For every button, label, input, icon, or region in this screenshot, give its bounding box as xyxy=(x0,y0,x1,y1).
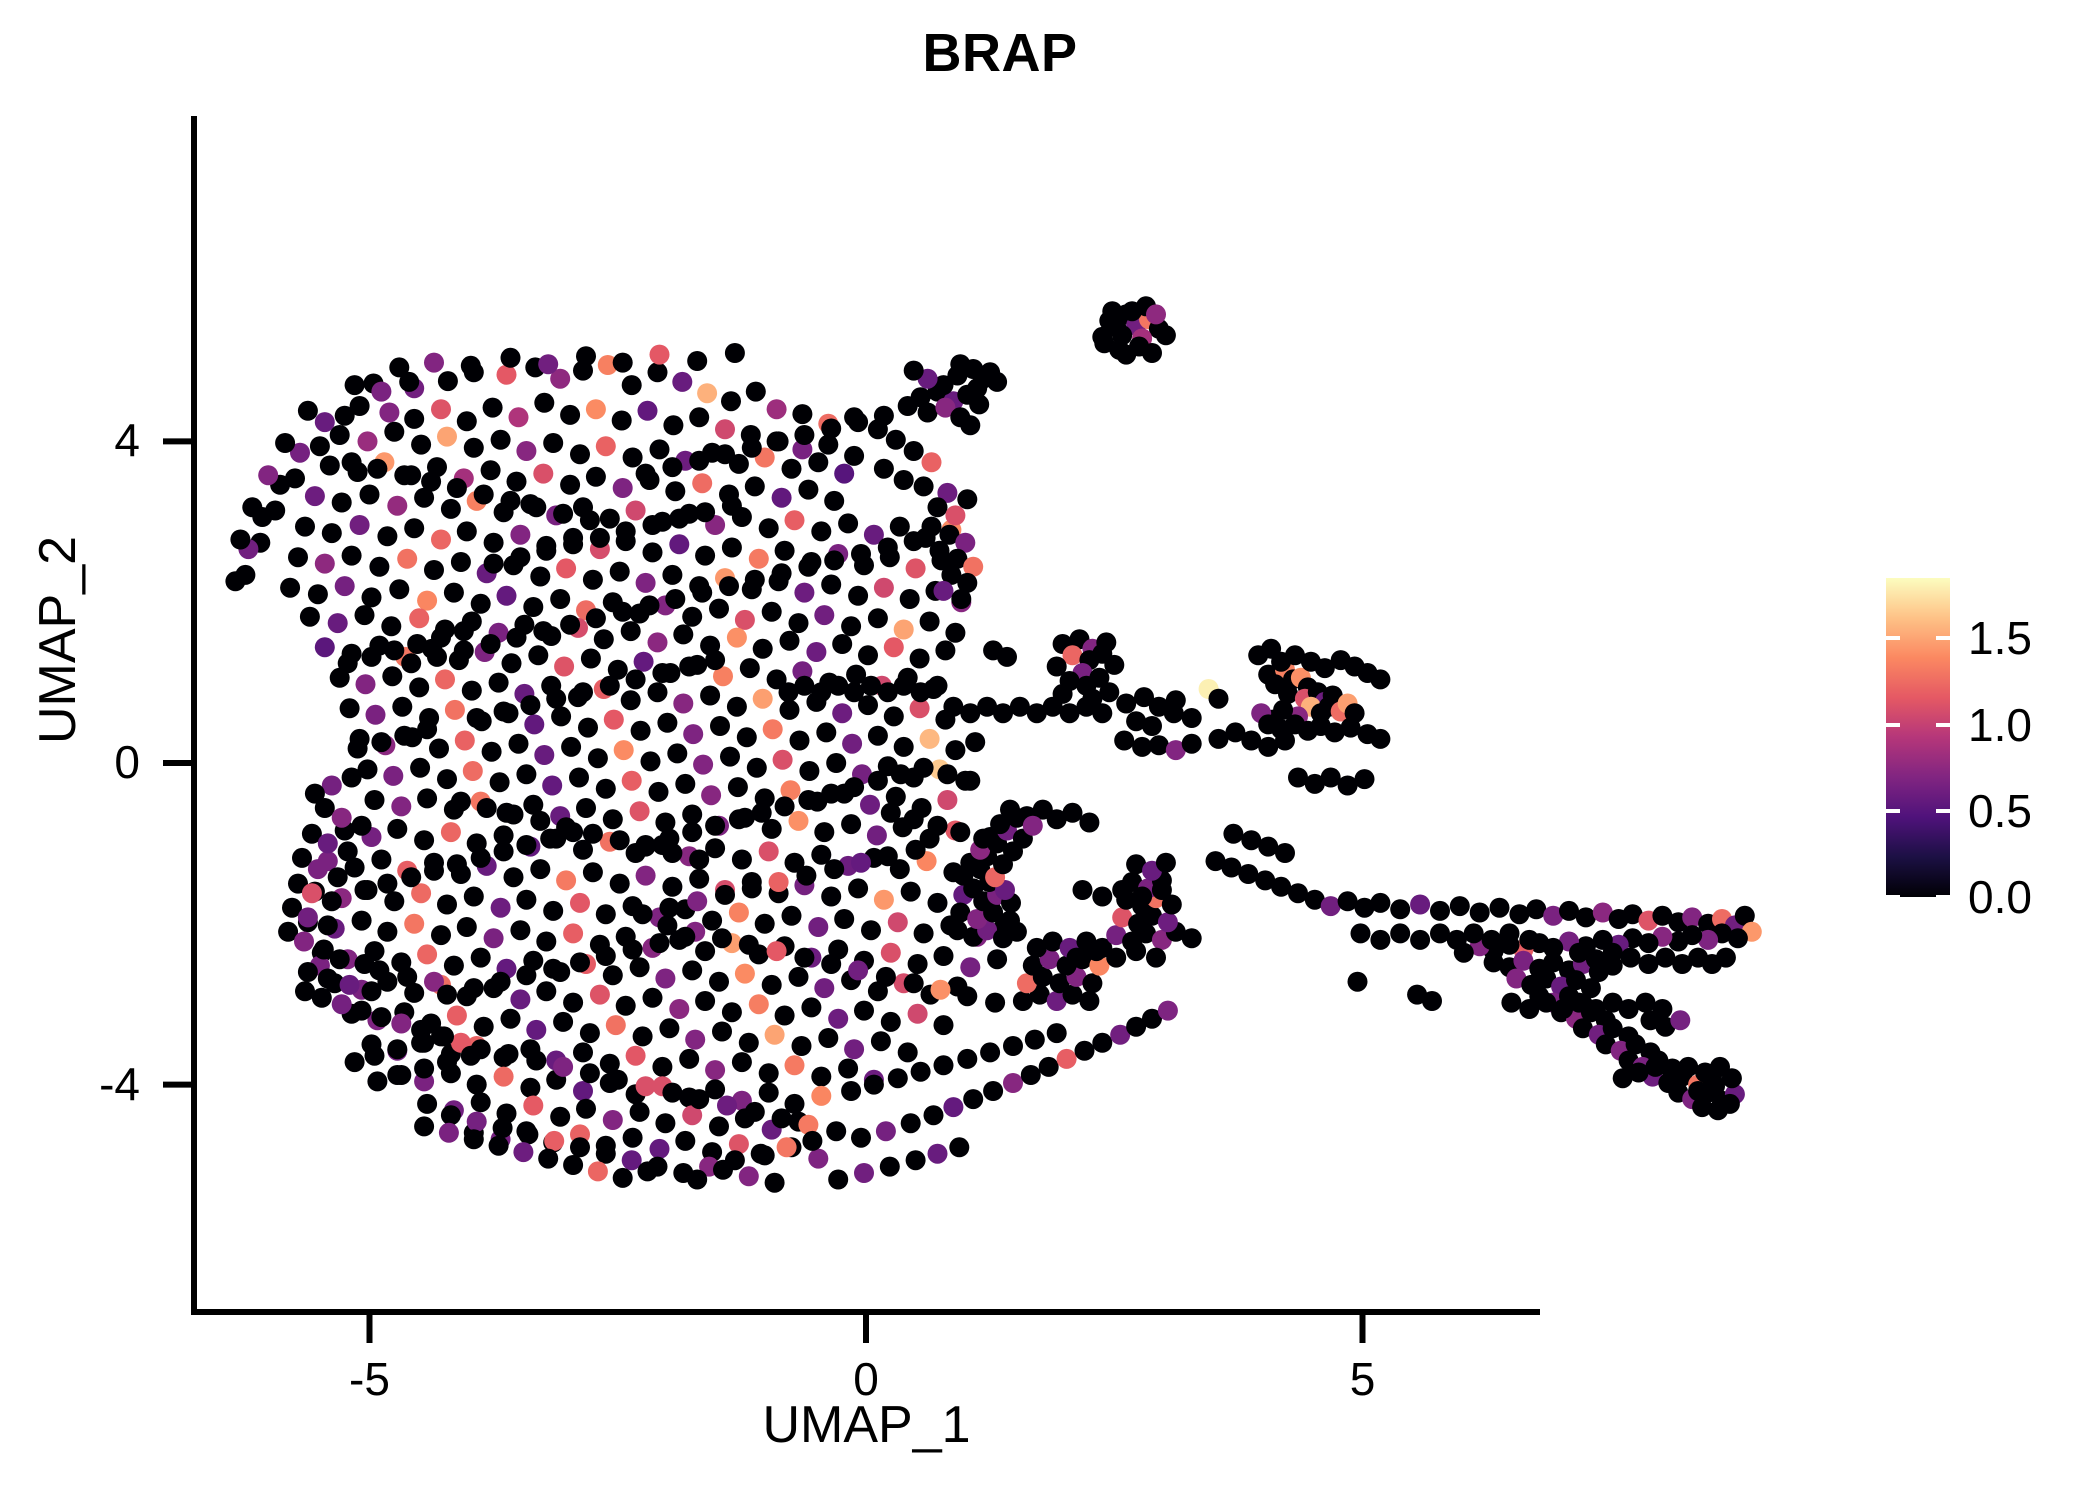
data-point xyxy=(874,406,894,426)
data-point xyxy=(414,1059,434,1079)
data-point xyxy=(725,343,745,363)
data-point xyxy=(471,594,491,614)
data-point xyxy=(414,830,434,850)
data-point xyxy=(312,988,332,1008)
data-point xyxy=(650,933,670,953)
data-point xyxy=(477,798,497,818)
data-point xyxy=(753,689,773,709)
data-point xyxy=(501,1009,521,1029)
data-point xyxy=(315,798,335,818)
data-point xyxy=(365,790,385,810)
data-point xyxy=(884,637,904,657)
data-point xyxy=(687,351,707,371)
data-point xyxy=(580,1063,600,1083)
data-point xyxy=(935,640,955,660)
data-point xyxy=(322,523,342,543)
data-point xyxy=(648,362,668,382)
data-point xyxy=(437,769,457,789)
data-point xyxy=(928,497,948,517)
data-point xyxy=(640,595,660,615)
data-point xyxy=(801,997,821,1017)
data-point xyxy=(957,1049,977,1069)
data-point xyxy=(556,870,576,890)
data-point xyxy=(636,866,656,886)
data-point xyxy=(904,531,924,551)
data-point xyxy=(494,1067,514,1087)
data-point xyxy=(729,809,749,829)
data-point xyxy=(543,901,563,921)
data-point xyxy=(1450,896,1470,916)
data-point xyxy=(854,1163,874,1183)
data-point xyxy=(965,732,985,752)
data-point xyxy=(447,478,467,498)
data-point xyxy=(922,517,942,537)
data-point xyxy=(876,967,896,987)
data-point xyxy=(957,489,977,509)
data-point xyxy=(1370,729,1390,749)
data-point xyxy=(481,460,501,480)
data-point xyxy=(538,354,558,374)
data-point xyxy=(570,444,590,464)
data-point xyxy=(701,785,721,805)
data-point xyxy=(765,1025,785,1045)
data-point xyxy=(868,771,888,791)
data-point xyxy=(463,761,483,781)
data-point xyxy=(1082,973,1102,993)
data-point xyxy=(467,708,487,728)
data-point xyxy=(387,1039,407,1059)
data-point xyxy=(709,1116,729,1136)
data-point xyxy=(444,583,464,603)
data-point xyxy=(721,391,741,411)
data-point xyxy=(1351,923,1371,943)
data-point xyxy=(550,589,570,609)
x-axis-ticks xyxy=(370,1312,1363,1343)
data-point xyxy=(732,850,752,870)
data-point xyxy=(832,634,852,654)
data-point xyxy=(417,1094,437,1114)
data-point xyxy=(610,874,630,894)
data-point xyxy=(1132,737,1152,757)
data-point xyxy=(922,452,942,472)
data-point xyxy=(280,578,300,598)
data-point xyxy=(987,949,1007,969)
data-point xyxy=(1132,887,1152,907)
data-point xyxy=(914,758,934,778)
data-point xyxy=(854,1001,874,1021)
data-point xyxy=(417,591,437,611)
data-point xyxy=(1613,1068,1633,1088)
data-point xyxy=(689,1089,709,1109)
data-point xyxy=(520,695,540,715)
data-point xyxy=(526,497,546,517)
data-point xyxy=(630,957,650,977)
data-point xyxy=(759,518,779,538)
data-point xyxy=(914,923,934,943)
data-point xyxy=(814,822,834,842)
data-point xyxy=(772,1108,792,1128)
data-point xyxy=(441,822,461,842)
data-point xyxy=(1092,327,1112,347)
data-point xyxy=(518,1124,538,1144)
data-point xyxy=(669,999,689,1019)
data-point xyxy=(633,1026,653,1046)
data-point xyxy=(960,957,980,977)
data-point xyxy=(437,427,457,447)
data-point xyxy=(1067,948,1087,968)
data-point xyxy=(616,996,636,1016)
data-point xyxy=(494,841,514,861)
data-point xyxy=(814,978,834,998)
data-point xyxy=(367,459,387,479)
data-point xyxy=(657,915,677,935)
data-point xyxy=(1000,911,1020,931)
data-point xyxy=(728,777,748,797)
data-point xyxy=(1470,903,1490,923)
data-point xyxy=(308,584,328,604)
data-point xyxy=(775,541,795,561)
data-point xyxy=(1209,729,1229,749)
data-point xyxy=(643,515,663,535)
data-point xyxy=(920,729,940,749)
data-point xyxy=(1275,843,1295,863)
data-point xyxy=(735,964,755,984)
data-point xyxy=(1073,880,1093,900)
data-point xyxy=(613,353,633,373)
data-point xyxy=(328,613,348,633)
data-point xyxy=(570,1137,590,1157)
data-point xyxy=(1410,930,1430,950)
data-point xyxy=(560,615,580,635)
data-point xyxy=(411,1033,431,1053)
data-point xyxy=(530,567,550,587)
data-point xyxy=(851,544,871,564)
data-point xyxy=(371,382,391,402)
data-point xyxy=(482,742,502,762)
data-point xyxy=(600,676,620,696)
data-point xyxy=(769,431,789,451)
data-point xyxy=(467,1112,487,1132)
data-point xyxy=(533,464,553,484)
data-point xyxy=(715,419,735,439)
data-point xyxy=(1182,708,1202,728)
data-point xyxy=(1410,895,1430,915)
data-point xyxy=(997,647,1017,667)
data-point xyxy=(844,777,864,797)
data-point xyxy=(454,640,474,660)
data-point xyxy=(785,1055,805,1075)
data-point xyxy=(305,486,325,506)
data-point xyxy=(342,452,362,472)
data-point xyxy=(308,859,328,879)
data-point xyxy=(634,652,654,672)
data-point xyxy=(928,816,948,836)
data-point xyxy=(538,1149,558,1169)
data-point xyxy=(621,621,641,641)
data-point xyxy=(490,772,510,792)
data-point xyxy=(772,488,792,508)
data-point xyxy=(578,718,598,738)
data-point xyxy=(1490,898,1510,918)
data-point xyxy=(435,669,455,689)
data-point xyxy=(722,538,742,558)
data-point xyxy=(523,597,543,617)
data-point xyxy=(489,1136,509,1156)
data-point xyxy=(745,476,765,496)
data-point xyxy=(534,393,554,413)
data-point xyxy=(553,1057,573,1077)
data-point xyxy=(543,433,563,453)
data-point xyxy=(700,686,720,706)
data-point xyxy=(340,975,360,995)
data-point xyxy=(367,1071,387,1091)
data-point xyxy=(533,621,553,641)
data-point xyxy=(1390,899,1410,919)
data-point xyxy=(832,703,852,723)
data-point xyxy=(616,521,636,541)
data-point xyxy=(467,1075,487,1095)
data-point xyxy=(790,731,810,751)
data-point xyxy=(808,452,828,472)
data-point xyxy=(242,497,262,517)
data-point xyxy=(867,825,887,845)
data-point xyxy=(409,608,429,628)
data-point xyxy=(821,784,841,804)
data-point xyxy=(695,546,715,566)
data-point xyxy=(318,915,338,935)
data-point xyxy=(1519,999,1539,1019)
data-point xyxy=(523,1096,543,1116)
data-point xyxy=(332,808,352,828)
data-point xyxy=(606,1015,626,1035)
data-point xyxy=(1576,907,1596,927)
data-point xyxy=(712,928,732,948)
data-point xyxy=(580,510,600,530)
data-point xyxy=(350,515,370,535)
data-point xyxy=(570,893,590,913)
data-point xyxy=(702,911,722,931)
data-point xyxy=(315,554,335,574)
data-point xyxy=(715,885,735,905)
data-point xyxy=(861,920,881,940)
data-point xyxy=(543,959,563,979)
data-point xyxy=(824,859,844,879)
data-point xyxy=(1348,972,1368,992)
data-point xyxy=(441,1105,461,1125)
data-point xyxy=(722,496,742,516)
data-point xyxy=(689,869,709,889)
data-point xyxy=(431,399,451,419)
data-point xyxy=(320,456,340,476)
data-point xyxy=(1355,769,1375,789)
data-point xyxy=(659,829,679,849)
data-point xyxy=(662,457,682,477)
data-point xyxy=(928,893,948,913)
data-point xyxy=(755,914,775,934)
data-point xyxy=(821,419,841,439)
data-point xyxy=(792,404,812,424)
data-point xyxy=(834,909,854,929)
data-point xyxy=(687,1170,707,1190)
data-point xyxy=(705,816,725,836)
data-point xyxy=(934,1055,954,1075)
data-point xyxy=(821,887,841,907)
data-point xyxy=(534,745,554,765)
data-point xyxy=(417,719,437,739)
data-point xyxy=(387,819,407,839)
data-point xyxy=(631,721,651,741)
data-point xyxy=(391,1014,411,1034)
data-point xyxy=(439,1123,459,1143)
data-point xyxy=(1156,325,1176,345)
data-point xyxy=(842,734,862,754)
data-point xyxy=(749,994,769,1014)
colorbar-tick xyxy=(1936,636,1950,640)
data-point xyxy=(878,538,898,558)
data-point xyxy=(626,1046,646,1066)
data-point xyxy=(384,891,404,911)
data-point xyxy=(898,1042,918,1062)
data-point xyxy=(314,940,334,960)
data-point xyxy=(431,628,451,648)
data-point xyxy=(665,481,685,501)
data-point xyxy=(576,798,596,818)
data-point xyxy=(381,616,401,636)
data-point xyxy=(881,943,901,963)
data-point xyxy=(451,792,471,812)
data-point xyxy=(352,816,372,836)
data-point xyxy=(749,549,769,569)
data-point xyxy=(789,613,809,633)
data-point xyxy=(739,1166,759,1186)
data-point xyxy=(841,1081,861,1101)
data-point xyxy=(636,464,656,484)
data-point xyxy=(906,840,926,860)
data-point xyxy=(387,496,407,516)
data-point xyxy=(583,570,603,590)
data-point xyxy=(464,978,484,998)
data-point xyxy=(937,764,957,784)
data-point xyxy=(335,406,355,426)
data-point xyxy=(675,927,695,947)
data-point xyxy=(590,528,610,548)
data-point xyxy=(891,764,911,784)
data-point xyxy=(404,914,424,934)
data-point xyxy=(811,521,831,541)
data-point xyxy=(828,1009,848,1029)
data-point xyxy=(1099,682,1119,702)
data-point xyxy=(636,573,656,593)
data-point xyxy=(1126,711,1146,731)
data-point xyxy=(409,677,429,697)
data-point xyxy=(340,698,360,718)
data-point xyxy=(745,1102,765,1122)
data-point xyxy=(1275,731,1295,751)
data-point xyxy=(742,438,762,458)
data-point xyxy=(596,779,616,799)
data-point xyxy=(980,1042,1000,1062)
data-point xyxy=(457,917,477,937)
data-point xyxy=(371,732,391,752)
data-point xyxy=(501,348,521,368)
data-point xyxy=(569,768,589,788)
data-point xyxy=(1688,1081,1708,1101)
data-point xyxy=(356,674,376,694)
colorbar-tick-label: 0.0 xyxy=(1968,870,2032,924)
data-point xyxy=(657,713,677,733)
data-point xyxy=(603,1110,623,1130)
data-point xyxy=(1025,1030,1045,1050)
data-point xyxy=(630,1102,650,1122)
data-point xyxy=(987,372,1007,392)
data-point xyxy=(298,401,318,421)
data-point xyxy=(544,1131,564,1151)
data-point xyxy=(685,1030,705,1050)
data-point xyxy=(945,740,965,760)
data-point xyxy=(536,932,556,952)
data-point xyxy=(1126,941,1146,961)
data-point xyxy=(338,653,358,673)
data-point xyxy=(808,917,828,937)
data-point xyxy=(794,948,814,968)
data-point xyxy=(851,1128,871,1148)
data-point xyxy=(622,375,642,395)
data-point xyxy=(1023,816,1043,836)
data-point xyxy=(524,714,544,734)
data-point xyxy=(960,771,980,791)
data-point xyxy=(898,396,918,416)
data-point xyxy=(775,796,795,816)
data-point xyxy=(526,1020,546,1040)
data-point xyxy=(438,371,458,391)
data-point xyxy=(258,465,278,485)
data-point xyxy=(802,1131,822,1151)
data-point xyxy=(560,475,580,495)
data-point xyxy=(613,602,633,622)
data-point xyxy=(752,803,772,823)
data-point xyxy=(457,411,477,431)
data-point xyxy=(881,1012,901,1032)
data-point xyxy=(1209,689,1229,709)
data-point xyxy=(556,558,576,578)
data-point xyxy=(596,1144,616,1164)
data-point xyxy=(1720,1094,1740,1114)
colorbar-tick-label: 1.5 xyxy=(1968,611,2032,665)
data-point xyxy=(300,607,320,627)
data-point xyxy=(636,835,656,855)
data-point xyxy=(471,948,491,968)
data-point xyxy=(904,973,924,993)
data-point xyxy=(563,923,583,943)
data-point xyxy=(772,563,792,583)
data-point xyxy=(888,1068,908,1088)
data-point xyxy=(318,969,338,989)
data-point xyxy=(397,967,417,987)
data-point xyxy=(553,1012,573,1032)
data-point xyxy=(315,637,335,657)
data-point xyxy=(377,874,397,894)
data-point xyxy=(894,470,914,490)
data-point xyxy=(798,790,818,810)
data-point xyxy=(554,657,574,677)
data-point xyxy=(906,558,926,578)
data-point xyxy=(682,822,702,842)
data-point xyxy=(298,962,318,982)
data-point xyxy=(838,1059,858,1079)
data-point xyxy=(536,541,556,561)
data-point xyxy=(551,706,571,726)
data-point xyxy=(1321,896,1341,916)
